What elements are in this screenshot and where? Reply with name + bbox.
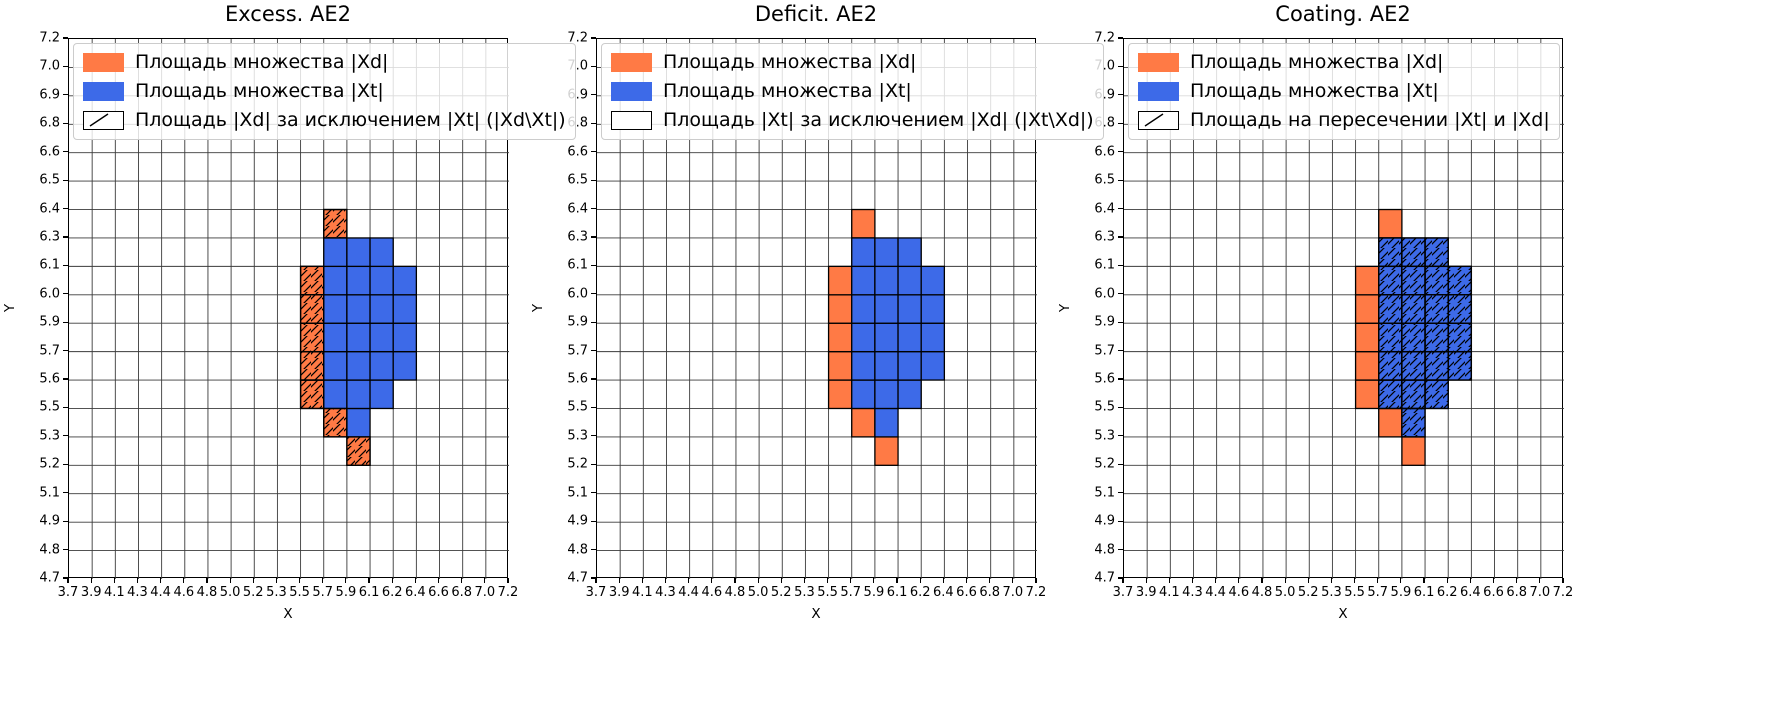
cell: [324, 238, 347, 266]
ytick-mark: [63, 407, 68, 408]
xtick-mark: [91, 578, 92, 583]
xtick-label: 4.3: [655, 585, 676, 600]
ytick-mark: [63, 37, 68, 38]
xtick-label: 6.4: [1460, 585, 1481, 600]
xtick-label: 4.8: [1252, 585, 1273, 600]
cell: [301, 266, 324, 294]
cell: [852, 295, 875, 323]
xtick-mark: [595, 578, 596, 583]
ytick-mark: [1118, 180, 1123, 181]
legend-entry: Площадь на пересечении |Xt| и |Xd|: [1138, 109, 1550, 132]
cell: [875, 266, 898, 294]
xtick-label: 6.2: [382, 585, 403, 600]
ytick-mark: [591, 66, 596, 67]
xtick-mark: [781, 578, 782, 583]
cell: [1425, 352, 1448, 380]
xtick-label: 4.1: [632, 585, 653, 600]
xtick-mark: [827, 578, 828, 583]
ytick-label: 4.8: [24, 542, 60, 557]
legend-swatch-hatch: [1138, 111, 1179, 130]
cell: [1402, 408, 1425, 436]
ytick-mark: [1118, 66, 1123, 67]
ytick-mark: [1118, 549, 1123, 550]
legend-label: Площадь |Xt| за исключением |Xd| (|Xt\Xd…: [663, 110, 1094, 131]
xtick-label: 3.9: [609, 585, 630, 600]
xtick-mark: [322, 578, 323, 583]
xtick-label: 4.3: [1182, 585, 1203, 600]
ytick-label: 6.1: [1079, 258, 1115, 273]
xtick-mark: [276, 578, 277, 583]
cell: [852, 408, 875, 436]
panel-title-deficit: Deficit. AE2: [596, 2, 1036, 26]
ytick-label: 5.7: [1079, 343, 1115, 358]
cell: [852, 238, 875, 266]
ytick-mark: [1118, 435, 1123, 436]
xtick-label: 5.5: [289, 585, 310, 600]
ytick-mark: [63, 549, 68, 550]
xtick-label: 5.9: [1391, 585, 1412, 600]
legend-entry: Площадь множества |Xt|: [83, 80, 566, 103]
ytick-label: 5.2: [552, 457, 588, 472]
legend-swatch-fill: [83, 53, 124, 72]
xtick-label: 5.7: [312, 585, 333, 600]
ytick-mark: [591, 407, 596, 408]
ytick-label: 5.3: [1079, 428, 1115, 443]
xtick-label: 5.5: [817, 585, 838, 600]
xtick-label: 5.7: [840, 585, 861, 600]
cell: [852, 323, 875, 351]
cell: [347, 238, 370, 266]
cell: [1448, 352, 1471, 380]
cell: [347, 266, 370, 294]
cell: [875, 437, 898, 465]
cell: [875, 380, 898, 408]
ytick-mark: [1118, 521, 1123, 522]
cell: [852, 210, 875, 238]
cell: [1379, 323, 1402, 351]
ytick-label: 6.5: [24, 173, 60, 188]
cell: [921, 323, 944, 351]
ytick-label: 6.5: [1079, 173, 1115, 188]
cell: [1425, 238, 1448, 266]
ytick-mark: [1118, 322, 1123, 323]
cell: [898, 238, 921, 266]
cell: [898, 352, 921, 380]
xtick-mark: [1331, 578, 1332, 583]
panel-title-coating: Coating. AE2: [1123, 2, 1563, 26]
cell: [324, 323, 347, 351]
xtick-label: 4.6: [173, 585, 194, 600]
ytick-mark: [591, 123, 596, 124]
cell: [370, 323, 393, 351]
legend-swatch-fill: [1138, 53, 1179, 72]
ytick-mark: [1118, 492, 1123, 493]
xtick-mark: [1012, 578, 1013, 583]
cell: [1379, 238, 1402, 266]
legend-excess: Площадь множества |Xd|Площадь множества …: [73, 43, 576, 140]
ytick-mark: [63, 464, 68, 465]
cell: [1448, 323, 1471, 351]
cell: [852, 266, 875, 294]
ytick-label: 4.7: [24, 571, 60, 586]
legend-swatch-fill: [611, 53, 652, 72]
ytick-mark: [591, 208, 596, 209]
ytick-mark: [591, 521, 596, 522]
cell: [324, 380, 347, 408]
xtick-mark: [392, 578, 393, 583]
xtick-label: 4.1: [1159, 585, 1180, 600]
cell: [1425, 295, 1448, 323]
legend-coating: Площадь множества |Xd|Площадь множества …: [1128, 43, 1560, 140]
cell: [301, 295, 324, 323]
xtick-label: 5.5: [1344, 585, 1365, 600]
x-axis-label: X: [1338, 606, 1347, 622]
xtick-label: 6.1: [359, 585, 380, 600]
cell: [393, 266, 416, 294]
ytick-label: 7.2: [24, 31, 60, 46]
xtick-label: 3.9: [1136, 585, 1157, 600]
cell: [1379, 266, 1402, 294]
xtick-label: 4.8: [197, 585, 218, 600]
legend-deficit: Площадь множества |Xd|Площадь множества …: [601, 43, 1104, 140]
ytick-mark: [591, 293, 596, 294]
cell: [1379, 352, 1402, 380]
ytick-mark: [63, 236, 68, 237]
ytick-label: 6.1: [552, 258, 588, 273]
xtick-mark: [230, 578, 231, 583]
ytick-label: 5.6: [552, 372, 588, 387]
cell: [1448, 295, 1471, 323]
xtick-mark: [1377, 578, 1378, 583]
xtick-mark: [67, 578, 68, 583]
ytick-label: 4.9: [24, 514, 60, 529]
legend-label: Площадь множества |Xd|: [663, 52, 916, 73]
y-axis-label: Y: [2, 304, 18, 312]
cell: [370, 352, 393, 380]
cell: [852, 352, 875, 380]
xtick-label: 7.2: [1026, 585, 1047, 600]
xtick-mark: [415, 578, 416, 583]
panel-title-excess: Excess. AE2: [68, 2, 508, 26]
cell: [347, 408, 370, 436]
xtick-label: 6.1: [887, 585, 908, 600]
xtick-label: 4.8: [725, 585, 746, 600]
xtick-mark: [299, 578, 300, 583]
xtick-label: 4.4: [678, 585, 699, 600]
xtick-label: 6.8: [451, 585, 472, 600]
ytick-label: 5.3: [24, 428, 60, 443]
xtick-label: 4.1: [104, 585, 125, 600]
ytick-label: 5.1: [24, 485, 60, 500]
ytick-label: 5.7: [552, 343, 588, 358]
xtick-label: 7.0: [474, 585, 495, 600]
ytick-label: 6.9: [24, 87, 60, 102]
ytick-label: 5.7: [24, 343, 60, 358]
xtick-label: 7.2: [1553, 585, 1574, 600]
ytick-label: 7.0: [24, 59, 60, 74]
ytick-mark: [1118, 464, 1123, 465]
xtick-mark: [1035, 578, 1036, 583]
ytick-mark: [1118, 94, 1123, 95]
xtick-label: 6.2: [1437, 585, 1458, 600]
ytick-mark: [1118, 378, 1123, 379]
cell: [324, 210, 347, 238]
xtick-label: 4.3: [127, 585, 148, 600]
ytick-mark: [591, 464, 596, 465]
ytick-mark: [63, 66, 68, 67]
ytick-mark: [591, 549, 596, 550]
xtick-label: 6.4: [933, 585, 954, 600]
xtick-mark: [1215, 578, 1216, 583]
cell: [1379, 380, 1402, 408]
ytick-label: 6.0: [1079, 286, 1115, 301]
ytick-mark: [1118, 407, 1123, 408]
xtick-label: 5.0: [1275, 585, 1296, 600]
legend-swatch-fill: [83, 82, 124, 101]
xtick-mark: [758, 578, 759, 583]
hatch-icon: [1139, 112, 1178, 129]
cell: [1379, 295, 1402, 323]
ytick-label: 4.8: [552, 542, 588, 557]
xtick-label: 7.0: [1529, 585, 1550, 600]
hatch-icon: [84, 112, 123, 129]
xtick-mark: [206, 578, 207, 583]
cell: [1425, 266, 1448, 294]
ytick-label: 6.1: [24, 258, 60, 273]
cell: [898, 323, 921, 351]
ytick-label: 5.2: [24, 457, 60, 472]
ytick-mark: [1118, 123, 1123, 124]
legend-label: Площадь множества |Xt|: [135, 81, 384, 102]
ytick-label: 5.2: [1079, 457, 1115, 472]
ytick-label: 6.4: [24, 201, 60, 216]
xtick-label: 6.2: [910, 585, 931, 600]
xtick-mark: [1470, 578, 1471, 583]
xtick-mark: [688, 578, 689, 583]
cell: [1448, 266, 1471, 294]
cell: [324, 408, 347, 436]
xtick-mark: [1122, 578, 1123, 583]
legend-entry: Площадь |Xt| за исключением |Xd| (|Xt\Xd…: [611, 109, 1094, 132]
xtick-mark: [507, 578, 508, 583]
xtick-mark: [1539, 578, 1540, 583]
xtick-mark: [989, 578, 990, 583]
ytick-label: 4.7: [1079, 571, 1115, 586]
ytick-label: 6.6: [1079, 144, 1115, 159]
xtick-label: 7.0: [1002, 585, 1023, 600]
cell: [324, 266, 347, 294]
ytick-mark: [591, 322, 596, 323]
xtick-label: 6.6: [1483, 585, 1504, 600]
xtick-mark: [873, 578, 874, 583]
cell: [829, 323, 852, 351]
xtick-label: 6.6: [428, 585, 449, 600]
ytick-label: 5.6: [24, 372, 60, 387]
ytick-mark: [63, 350, 68, 351]
xtick-label: 3.7: [1113, 585, 1134, 600]
cell: [393, 323, 416, 351]
cell: [829, 295, 852, 323]
xtick-mark: [183, 578, 184, 583]
xtick-mark: [484, 578, 485, 583]
ytick-label: 6.0: [552, 286, 588, 301]
xtick-mark: [1447, 578, 1448, 583]
cell: [370, 238, 393, 266]
cell: [898, 380, 921, 408]
xtick-mark: [1423, 578, 1424, 583]
xtick-mark: [1285, 578, 1286, 583]
xtick-label: 4.6: [701, 585, 722, 600]
xtick-mark: [1493, 578, 1494, 583]
panel-excess: Excess. AE24.74.84.95.15.25.35.55.65.75.…: [0, 0, 528, 709]
xtick-mark: [850, 578, 851, 583]
ytick-label: 6.3: [1079, 229, 1115, 244]
legend-entry: Площадь множества |Xd|: [83, 51, 566, 74]
panel-deficit: Deficit. AE24.74.84.95.15.25.35.55.65.75…: [528, 0, 1056, 709]
xtick-label: 5.7: [1367, 585, 1388, 600]
cell: [1402, 295, 1425, 323]
ytick-label: 5.9: [552, 315, 588, 330]
xtick-label: 4.6: [1228, 585, 1249, 600]
cell: [875, 295, 898, 323]
cell: [852, 380, 875, 408]
cell: [1356, 266, 1379, 294]
ytick-label: 5.1: [1079, 485, 1115, 500]
xtick-mark: [1562, 578, 1563, 583]
ytick-mark: [63, 208, 68, 209]
x-axis-label: X: [283, 606, 292, 622]
ytick-mark: [1118, 37, 1123, 38]
ytick-mark: [63, 293, 68, 294]
xtick-mark: [114, 578, 115, 583]
cell: [1379, 408, 1402, 436]
y-axis-label: Y: [1057, 304, 1073, 312]
cell: [898, 295, 921, 323]
legend-label: Площадь множества |Xt|: [1190, 81, 1439, 102]
cell: [1425, 323, 1448, 351]
cell: [347, 380, 370, 408]
xtick-label: 5.0: [748, 585, 769, 600]
xtick-label: 5.3: [266, 585, 287, 600]
xtick-mark: [1169, 578, 1170, 583]
xtick-mark: [920, 578, 921, 583]
cell: [347, 295, 370, 323]
xtick-label: 4.4: [150, 585, 171, 600]
xtick-label: 6.8: [979, 585, 1000, 600]
ytick-mark: [63, 492, 68, 493]
xtick-mark: [734, 578, 735, 583]
cell: [347, 437, 370, 465]
cell: [1402, 238, 1425, 266]
x-axis-label: X: [811, 606, 820, 622]
xtick-mark: [368, 578, 369, 583]
ytick-label: 6.3: [24, 229, 60, 244]
xtick-label: 4.4: [1205, 585, 1226, 600]
cell: [1379, 210, 1402, 238]
xtick-mark: [1308, 578, 1309, 583]
ytick-label: 5.3: [552, 428, 588, 443]
legend-label: Площадь множества |Xd|: [135, 52, 388, 73]
cell: [370, 380, 393, 408]
xtick-mark: [1354, 578, 1355, 583]
xtick-mark: [438, 578, 439, 583]
xtick-mark: [253, 578, 254, 583]
xtick-label: 3.9: [81, 585, 102, 600]
legend-label: Площадь множества |Xt|: [663, 81, 912, 102]
ytick-mark: [591, 492, 596, 493]
ytick-mark: [1118, 151, 1123, 152]
xtick-label: 5.9: [864, 585, 885, 600]
ytick-label: 5.9: [1079, 315, 1115, 330]
xtick-mark: [1146, 578, 1147, 583]
cell: [898, 266, 921, 294]
legend-swatch-hatch: [611, 111, 652, 130]
xtick-mark: [1516, 578, 1517, 583]
ytick-label: 6.4: [1079, 201, 1115, 216]
cell: [324, 295, 347, 323]
ytick-mark: [63, 123, 68, 124]
cell: [324, 352, 347, 380]
cell: [1402, 323, 1425, 351]
xtick-mark: [966, 578, 967, 583]
xtick-mark: [1261, 578, 1262, 583]
legend-entry: Площадь множества |Xd|: [1138, 51, 1550, 74]
cell: [921, 295, 944, 323]
xtick-label: 6.8: [1506, 585, 1527, 600]
ytick-mark: [1118, 350, 1123, 351]
cell: [1402, 437, 1425, 465]
cell: [921, 352, 944, 380]
xtick-mark: [711, 578, 712, 583]
ytick-mark: [591, 378, 596, 379]
cell: [1402, 352, 1425, 380]
ytick-label: 5.5: [24, 400, 60, 415]
cell: [829, 352, 852, 380]
ytick-label: 5.6: [1079, 372, 1115, 387]
xtick-label: 5.2: [771, 585, 792, 600]
ytick-mark: [63, 265, 68, 266]
cell: [393, 352, 416, 380]
cell: [347, 352, 370, 380]
cell: [301, 323, 324, 351]
legend-entry: Площадь |Xd| за исключением |Xt| (|Xd\Xt…: [83, 109, 566, 132]
cell: [829, 380, 852, 408]
cell: [301, 352, 324, 380]
legend-entry: Площадь множества |Xd|: [611, 51, 1094, 74]
legend-label: Площадь на пересечении |Xt| и |Xd|: [1190, 110, 1550, 131]
ytick-mark: [1118, 293, 1123, 294]
ytick-mark: [591, 180, 596, 181]
ytick-label: 4.7: [552, 571, 588, 586]
cell: [1402, 380, 1425, 408]
ytick-mark: [591, 94, 596, 95]
cell: [1356, 323, 1379, 351]
ytick-mark: [63, 151, 68, 152]
ytick-mark: [591, 435, 596, 436]
xtick-mark: [1192, 578, 1193, 583]
cell: [875, 408, 898, 436]
xtick-label: 7.2: [498, 585, 519, 600]
ytick-mark: [63, 435, 68, 436]
xtick-label: 5.2: [1298, 585, 1319, 600]
legend-label: Площадь множества |Xd|: [1190, 52, 1443, 73]
legend-swatch-hatch: [83, 111, 124, 130]
ytick-label: 5.5: [552, 400, 588, 415]
ytick-mark: [63, 94, 68, 95]
xtick-label: 6.4: [405, 585, 426, 600]
xtick-mark: [619, 578, 620, 583]
cell: [875, 238, 898, 266]
